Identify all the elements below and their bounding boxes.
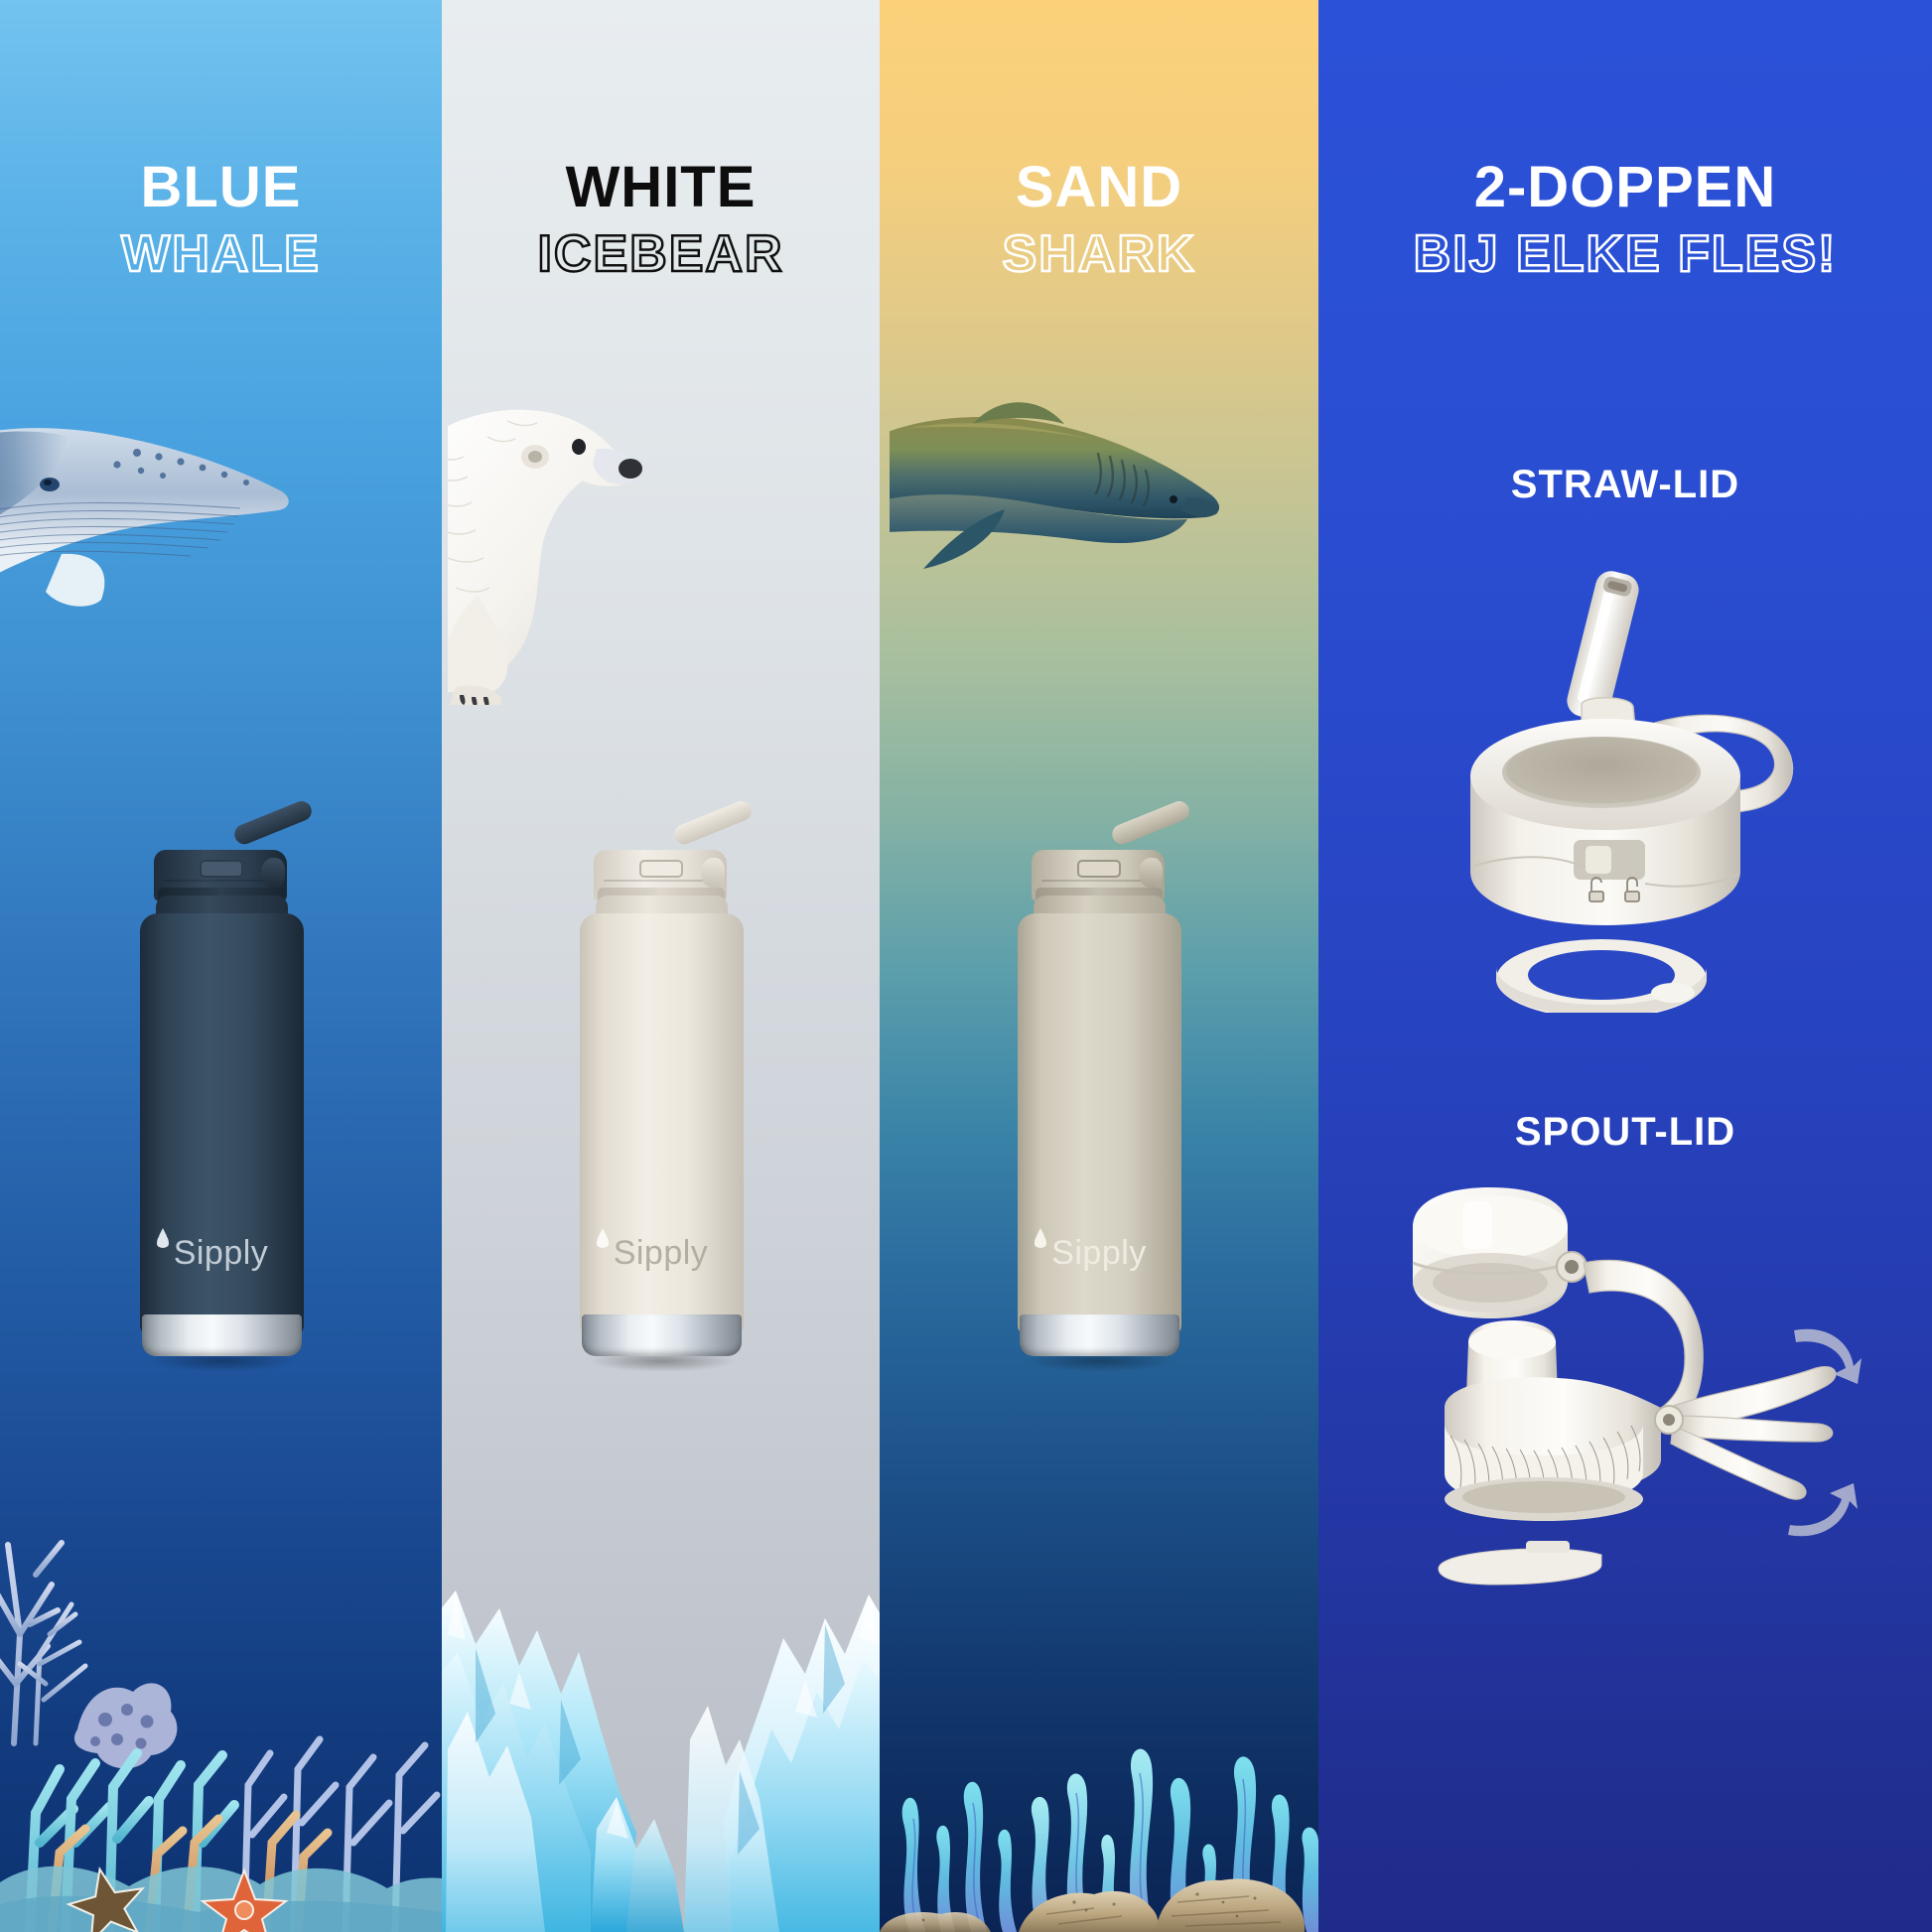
- bottle-blue-whale[interactable]: Sipply: [112, 844, 331, 1400]
- bottle-white-icebear[interactable]: Sipply: [552, 844, 770, 1400]
- polar-bear-illustration: [448, 397, 746, 705]
- bottle-cap-groove: [604, 880, 708, 882]
- variant-column-two-lids[interactable]: 2-DOPPEN BIJ ELKE FLES! STRAW-LID: [1318, 0, 1932, 1932]
- variant-column-blue-whale[interactable]: BLUE WHALE Sipply: [0, 0, 442, 1932]
- bottle-steel-base: [582, 1314, 742, 1356]
- bottle-sand-shark[interactable]: Sipply: [990, 844, 1208, 1400]
- humpback-whale-illustration: [0, 405, 300, 614]
- bottle-logo-sipply: Sipply: [990, 1234, 1208, 1273]
- bottle-logo-text: Sipply: [174, 1234, 269, 1272]
- bottle-cap-latch: [1077, 860, 1121, 878]
- shark-illustration: [890, 402, 1247, 576]
- bottle-logo-text: Sipply: [614, 1234, 709, 1272]
- variant-column-sand-shark[interactable]: SAND SHARK Sipply: [880, 0, 1318, 1932]
- bottle-logo-sipply: Sipply: [552, 1234, 770, 1273]
- bottle-cap-latch: [639, 860, 683, 878]
- bottle-cap-latch: [200, 860, 243, 878]
- spout-lid-product-image[interactable]: [1387, 1172, 1863, 1598]
- bottle-cap-knob: [701, 858, 725, 888]
- bottle-cap-knob: [1139, 858, 1163, 888]
- bottle-logo-text: Sipply: [1051, 1234, 1147, 1272]
- bottle-steel-base: [1020, 1314, 1179, 1356]
- variant-column-white-icebear[interactable]: WHITE ICEBEAR Sipply: [442, 0, 880, 1932]
- bottle-cap-groove: [164, 880, 268, 882]
- bottle-cap-groove: [1041, 880, 1146, 882]
- bottle-steel-base: [142, 1314, 302, 1356]
- straw-lid-product-image[interactable]: [1407, 556, 1844, 1013]
- bottle-logo-sipply: Sipply: [112, 1234, 331, 1273]
- bottle-cap-knob: [261, 858, 285, 888]
- product-variant-poster: BLUE WHALE Sipply: [0, 0, 1932, 1932]
